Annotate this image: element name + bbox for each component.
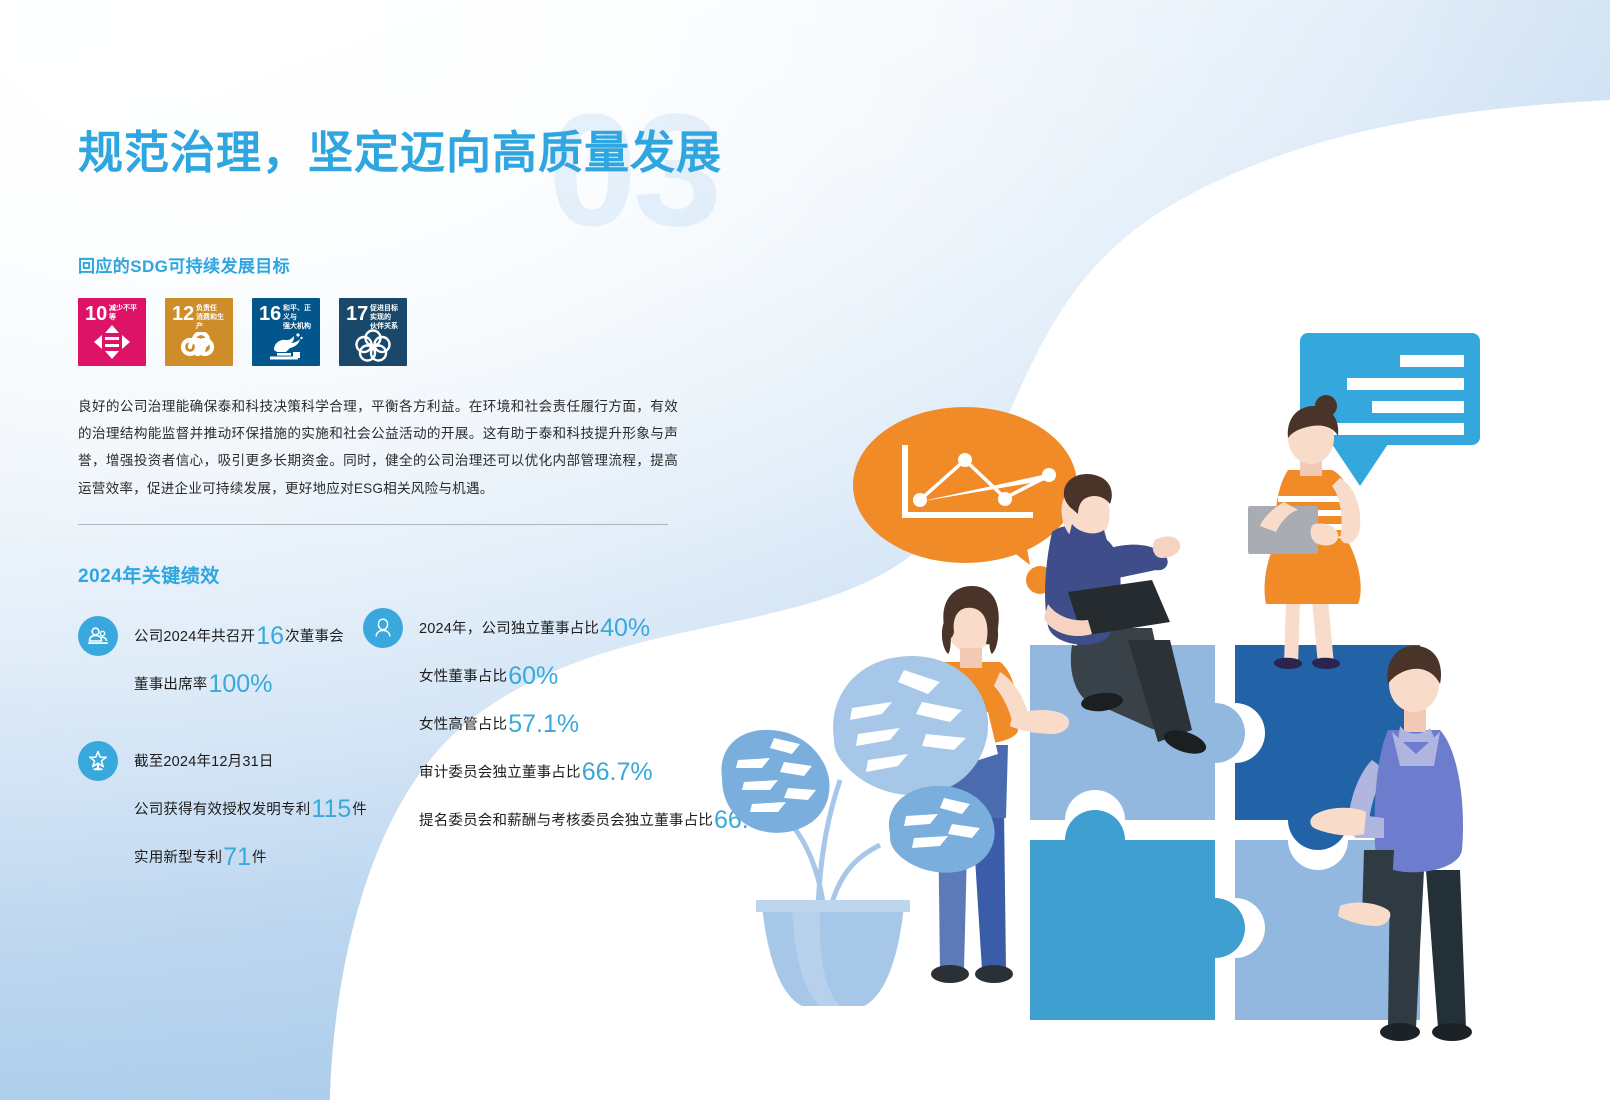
- kpi-line-pre: 实用新型专利: [134, 850, 222, 866]
- kpi-line: 截至2024年12月31日: [134, 747, 367, 776]
- sdg-goal-17-number: 17: [346, 304, 368, 324]
- kpi-group-board-meetings: 公司2024年共召开16次董事会 董事出席率100%: [78, 616, 344, 699]
- kpi-line-pre: 董事出席率: [134, 677, 208, 693]
- sdg-goal-10-label: 减少不平等: [109, 305, 143, 323]
- page-title: 规范治理，坚定迈向高质量发展: [78, 128, 778, 178]
- sdg-goal-12-number: 12: [172, 304, 194, 324]
- kpi-line-pre: 公司2024年共召开: [134, 629, 255, 645]
- intro-paragraph: 良好的公司治理能确保泰和科技决策科学合理，平衡各方利益。在环境和社会责任履行方面…: [78, 393, 678, 502]
- star-award-icon: [78, 741, 118, 781]
- board-meeting-icon: [78, 616, 118, 656]
- sdg-goal-16-label: 和平、正义与强大机构: [283, 305, 317, 331]
- kpi-line-value: 100%: [208, 670, 274, 698]
- kpi-section-heading: 2024年关键绩效: [78, 561, 778, 588]
- sdg-goal-10[interactable]: 10 减少不平等: [78, 298, 146, 366]
- kpi-line-post: 次董事会: [285, 629, 344, 645]
- kpi-line-value: 16: [255, 622, 285, 650]
- puzzle-piece-bottom-left: [1030, 810, 1245, 1020]
- kpi-line-pre: 女性董事占比: [419, 669, 507, 685]
- kpi-line: 公司获得有效授权发明专利115件: [134, 795, 367, 824]
- kpi-line-value: 115: [310, 795, 352, 823]
- kpi-lines: 公司2024年共召开16次董事会 董事出席率100%: [134, 616, 344, 699]
- kpi-line-pre: 2024年，公司独立董事占比: [419, 621, 599, 637]
- kpi-line-value: 60%: [507, 662, 559, 690]
- kpi-line: 公司2024年共召开16次董事会: [134, 622, 344, 651]
- chart-bubble-icon: [853, 407, 1077, 594]
- sdg-goal-12-label: 负责任消费和生产: [196, 305, 230, 331]
- kpi-line-value: [274, 747, 276, 775]
- kpi-line: 实用新型专利71件: [134, 843, 367, 872]
- content-column: 03 规范治理，坚定迈向高质量发展 回应的SDG可持续发展目标 10 减少不平等: [78, 0, 778, 936]
- sdg-goal-17[interactable]: 17 促进目标实现的伙伴关系: [339, 298, 407, 366]
- kpi-line-pre: 女性高管占比: [419, 717, 507, 733]
- sdg-goal-12[interactable]: 12 负责任消费和生产: [165, 298, 233, 366]
- kpi-line-pre: 提名委员会和薪酬与考核委员会独立董事占比: [419, 813, 713, 829]
- sdg-goal-list: 10 减少不平等 12 负责任消费和生产: [78, 298, 778, 366]
- equality-arrows-icon: [78, 322, 146, 362]
- report-page: 03 规范治理，坚定迈向高质量发展 回应的SDG可持续发展目标 10 减少不平等: [0, 0, 1610, 1100]
- kpi-line-pre: 审计委员会独立董事占比: [419, 765, 581, 781]
- section-divider: [78, 524, 668, 525]
- kpi-lines: 截至2024年12月31日 公司获得有效授权发明专利115件 实用新型专利71件: [134, 741, 367, 872]
- kpi-line-value: 71: [222, 843, 252, 871]
- kpi-group-patents: 截至2024年12月31日 公司获得有效授权发明专利115件 实用新型专利71件: [78, 741, 367, 872]
- kpi-line-value: 57.1%: [507, 710, 580, 738]
- kpi-line-post: 件: [252, 850, 267, 866]
- interlocking-circles-icon: [339, 328, 407, 362]
- dove-gavel-icon: [252, 330, 320, 362]
- teamwork-illustration: [700, 310, 1600, 1100]
- kpi-line-value: 40%: [599, 614, 651, 642]
- female-director-icon: [363, 608, 403, 648]
- kpi-line-value: 66.7%: [581, 758, 654, 786]
- kpi-line-pre: 公司获得有效授权发明专利: [134, 802, 310, 818]
- infinity-loop-icon: [165, 332, 233, 362]
- chapter-header: 03 规范治理，坚定迈向高质量发展: [78, 128, 778, 204]
- kpi-line-pre: 截至2024年12月31日: [134, 754, 274, 770]
- kpi-line: 董事出席率100%: [134, 670, 344, 699]
- sdg-goal-16-number: 16: [259, 304, 281, 324]
- sdg-goal-10-number: 10: [85, 304, 107, 324]
- kpi-groups: 公司2024年共召开16次董事会 董事出席率100%: [78, 616, 778, 936]
- sdg-goal-16[interactable]: 16 和平、正义与强大机构: [252, 298, 320, 366]
